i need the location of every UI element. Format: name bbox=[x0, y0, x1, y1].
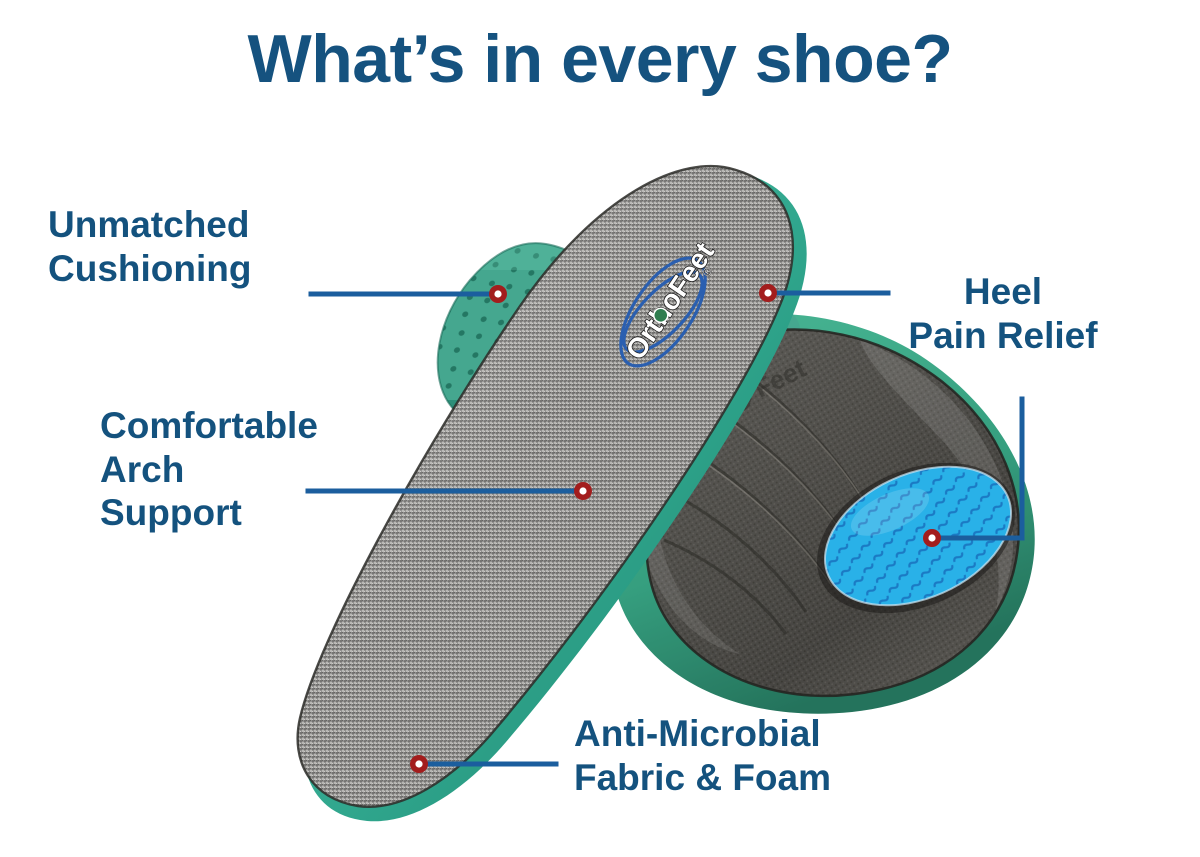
leader-heel-pain-relief-lower bbox=[923, 399, 1022, 547]
infographic-canvas: Feet bbox=[0, 0, 1200, 857]
leader-comfortable-arch-support bbox=[308, 482, 592, 500]
leader-anti-microbial bbox=[410, 755, 556, 773]
leader-unmatched-cushioning bbox=[311, 285, 507, 303]
leader-heel-pain-relief-upper bbox=[759, 284, 888, 302]
callout-leader-lines bbox=[0, 0, 1200, 857]
